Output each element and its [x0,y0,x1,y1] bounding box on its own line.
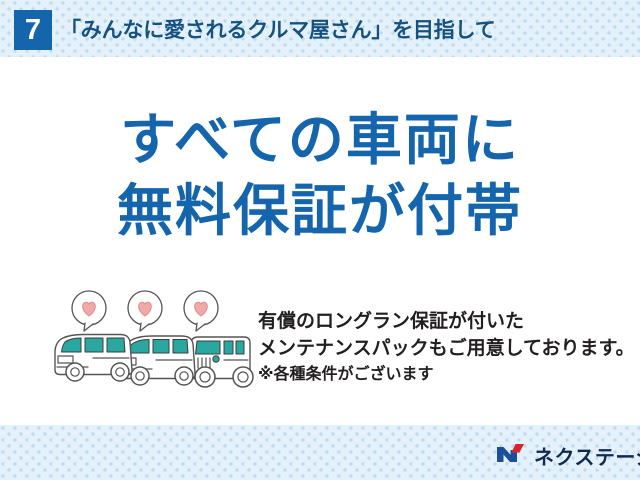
description-note: ※各種条件がございます [258,362,630,388]
three-cars-with-heart-bubbles-illustration [48,288,260,400]
promo-slide: 7 「みんなに愛されるクルマ屋さん」を目指して すべての車両に 無料保証が付帯 [0,0,640,480]
nextage-n-logo-icon [495,441,527,470]
car-kei [55,335,132,382]
header-title: 「みんなに愛されるクルマ屋さん」を目指して [60,14,496,44]
headline-line-1: すべての車両に [0,104,640,175]
car-suv [189,337,253,387]
description-line-1: 有償のロングラン保証が付いた [258,308,630,335]
brand-name: ネクステージ [534,441,640,470]
heart-bubble-group [72,291,218,331]
section-number-badge: 7 [14,10,52,50]
brand-logo: ネクステージ [495,441,640,470]
description-text: 有償のロングラン保証が付いた メンテナンスパックもご用意しております。 ※各種条… [258,308,630,388]
page-title: すべての車両に 無料保証が付帯 [0,104,640,246]
description-line-2: メンテナンスパックもご用意しております。 [258,335,630,362]
headline-line-2: 無料保証が付帯 [0,175,640,246]
